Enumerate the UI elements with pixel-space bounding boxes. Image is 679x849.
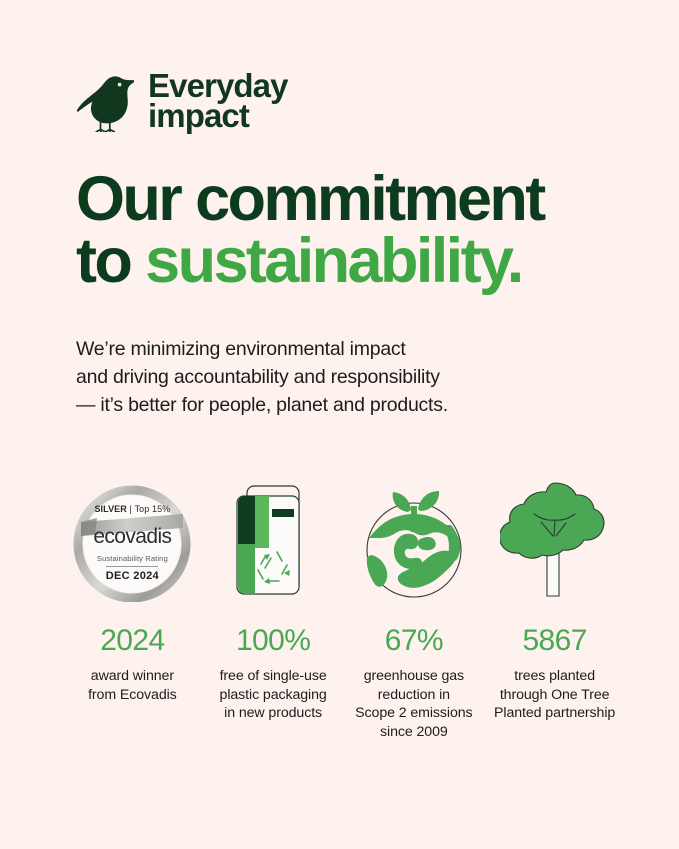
- intro-line-3: — it’s better for people, planet and pro…: [76, 391, 607, 419]
- stat-value: 5867: [522, 626, 586, 656]
- brand-wordmark: Everyday impact: [148, 71, 288, 132]
- stat-caption: greenhouse gas reduction in Scope 2 emis…: [355, 667, 472, 742]
- page-title: Our commitment to sustainability.: [76, 168, 607, 293]
- stat-item: 100% free of single-use plastic packagin…: [203, 462, 344, 723]
- stat-value: 100%: [236, 626, 310, 656]
- stat-caption-line: award winner: [88, 667, 177, 686]
- stat-caption: award winner from Ecovadis: [88, 667, 177, 704]
- intro-line-2: and driving accountability and responsib…: [76, 363, 607, 391]
- stat-item: SILVER | Top 15% ecovadis Sustainability…: [62, 462, 203, 704]
- bird-icon: [76, 70, 134, 132]
- headline-line-1: Our commitment: [76, 168, 607, 230]
- stat-caption-line: free of single-use: [220, 667, 327, 686]
- stat-caption-line: through One Tree: [494, 686, 615, 705]
- stat-caption-line: from Ecovadis: [88, 686, 177, 705]
- intro-line-1: We’re minimizing environmental impact: [76, 335, 607, 363]
- stat-value: 2024: [100, 626, 164, 656]
- stat-caption-line: Planted partnership: [494, 704, 615, 723]
- sustainability-infographic: Everyday impact Our commitment to sustai…: [0, 0, 679, 849]
- stat-icon-wrap: [500, 462, 610, 602]
- stat-caption-line: greenhouse gas: [355, 667, 472, 686]
- headline-accent: sustainability.: [145, 226, 521, 296]
- stat-caption-line: reduction in: [355, 686, 472, 705]
- intro-paragraph: We’re minimizing environmental impact an…: [76, 335, 607, 420]
- stat-caption-line: since 2009: [355, 723, 472, 742]
- packaging-recycle-icon: [225, 482, 321, 602]
- stat-caption: trees planted through One Tree Planted p…: [494, 667, 615, 723]
- stat-caption: free of single-use plastic packaging in …: [220, 667, 327, 723]
- stat-caption-line: plastic packaging: [220, 686, 327, 705]
- stat-caption-line: trees planted: [494, 667, 615, 686]
- stat-icon-wrap: [225, 462, 321, 602]
- stat-value: 67%: [385, 626, 443, 656]
- stat-icon-wrap: [353, 462, 475, 602]
- stats-row: SILVER | Top 15% ecovadis Sustainability…: [62, 462, 625, 742]
- stat-item: 67% greenhouse gas reduction in Scope 2 …: [344, 462, 485, 742]
- brand-name-line2: impact: [148, 101, 288, 131]
- tree-icon: [500, 474, 610, 602]
- stat-caption-line: in new products: [220, 704, 327, 723]
- headline-line-2: to sustainability.: [76, 230, 607, 292]
- stat-item: 5867 trees planted through One Tree Plan…: [484, 462, 625, 723]
- brand-logo: Everyday impact: [76, 62, 607, 140]
- ecovadis-medal-icon: SILVER | Top 15% ecovadis Sustainability…: [73, 484, 191, 602]
- stat-icon-wrap: SILVER | Top 15% ecovadis Sustainability…: [73, 462, 191, 602]
- stat-caption-line: Scope 2 emissions: [355, 704, 472, 723]
- headline-prefix: to: [76, 226, 145, 296]
- globe-sprout-icon: [353, 462, 475, 602]
